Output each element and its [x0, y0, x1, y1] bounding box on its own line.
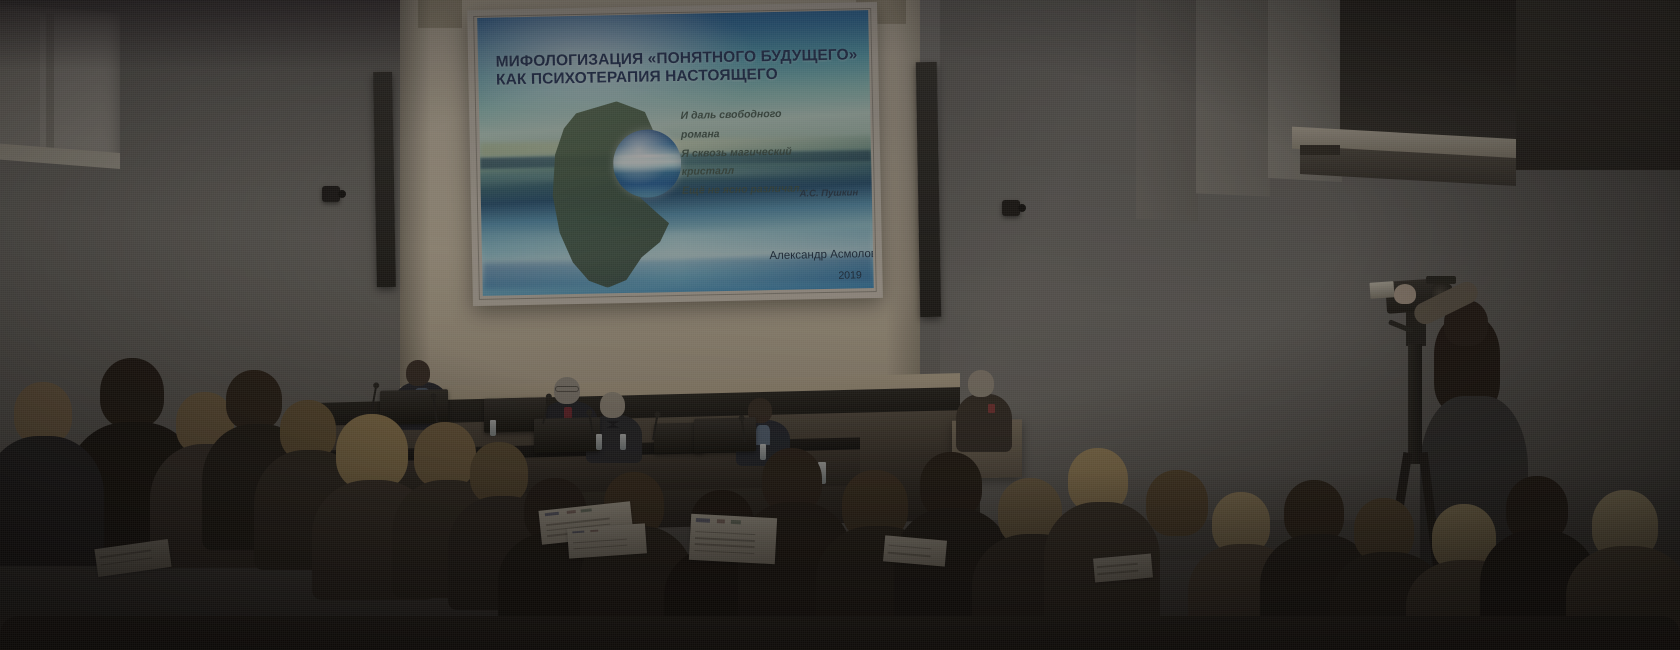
handout-text-line — [1098, 570, 1139, 575]
seat-row — [0, 616, 1680, 650]
right-dark-alcove — [1340, 0, 1520, 140]
program-handout — [883, 535, 947, 566]
handout-text-line — [695, 543, 755, 548]
far-right-dark-wall — [1516, 0, 1680, 170]
camera-lens-hood — [1426, 276, 1456, 284]
handout-text-line — [101, 557, 153, 566]
audience-head — [226, 370, 282, 430]
wall-speaker-left — [373, 72, 396, 287]
screen-frame-border — [473, 8, 877, 300]
handout-logo-icon — [730, 520, 740, 524]
handout-text-line — [1097, 563, 1138, 568]
auditorium-scene: МИФОЛОГИЗАЦИЯ «ПОНЯТНОГО БУДУЩЕГО» КАК П… — [0, 0, 1680, 650]
handout-logo-icon — [544, 512, 559, 517]
wall-panel-2 — [1196, 0, 1270, 197]
audience-head — [336, 414, 408, 490]
handout-text-line — [887, 552, 930, 557]
audience-head — [100, 358, 164, 428]
audience-head — [414, 422, 476, 488]
handout-logo-icon — [696, 518, 710, 523]
handout-logo-icon — [717, 519, 726, 523]
handout-text-line — [573, 544, 628, 549]
camera-lcd-screen — [1369, 281, 1394, 299]
handout-text-line — [888, 544, 931, 549]
operator-hand — [1394, 284, 1416, 304]
handout-text-line — [695, 531, 755, 536]
wall-camera-icon-right — [1002, 200, 1020, 216]
wall-camera-icon-left — [322, 186, 340, 202]
wall-panel-1 — [1136, 0, 1198, 221]
audience-body — [0, 436, 104, 566]
handout-logo-icon — [566, 510, 575, 514]
audience-head — [470, 442, 528, 504]
projection-screen: МИФОЛОГИЗАЦИЯ «ПОНЯТНОГО БУДУЩЕГО» КАК П… — [467, 2, 883, 306]
right-shelf-lip — [1300, 145, 1340, 155]
handout-logo-icon — [591, 529, 599, 532]
handout-text-line — [573, 538, 628, 543]
handout-text-line — [694, 550, 754, 555]
audience-head — [14, 382, 72, 444]
program-handout — [567, 523, 647, 558]
audience-area — [0, 330, 1680, 650]
wall-speaker-right — [916, 62, 941, 317]
handout-logo-icon — [572, 530, 585, 534]
program-handout — [1093, 554, 1153, 583]
handout-text-line — [695, 537, 755, 542]
handout-logo-icon — [581, 508, 592, 512]
program-handout — [689, 514, 777, 564]
